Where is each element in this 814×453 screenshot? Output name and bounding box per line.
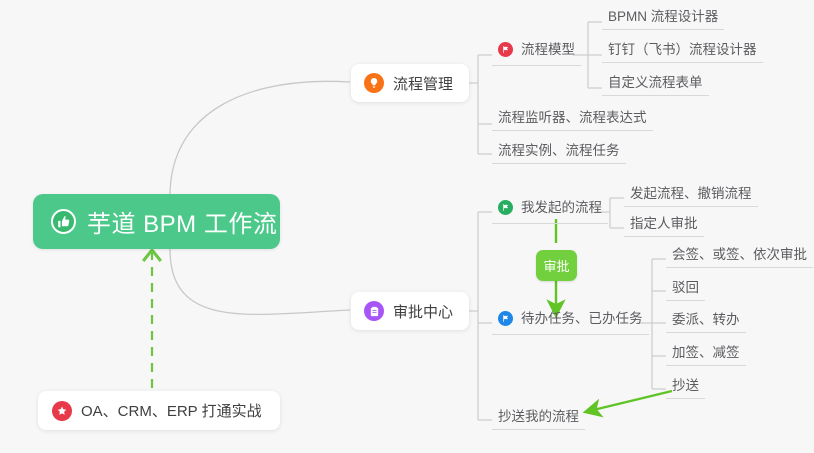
leaf-label: 指定人审批: [630, 217, 698, 231]
leaf-reject[interactable]: 驳回: [666, 281, 705, 301]
leaf-countersign-approval[interactable]: 会签、或签、依次审批: [666, 248, 813, 268]
leaf-label: 流程监听器、流程表达式: [498, 111, 647, 125]
callout-label: OA、CRM、ERP 打通实战: [81, 400, 262, 421]
flag-icon: [498, 200, 513, 215]
leaf-delegate-transfer[interactable]: 委派、转办: [666, 313, 746, 333]
leaf-my-initiated-process[interactable]: 我发起的流程: [492, 200, 608, 224]
arrow-cc-to-my-cc: [585, 391, 672, 412]
branch-label-process-management: 流程管理: [393, 73, 453, 94]
leaf-process-model[interactable]: 流程模型: [492, 42, 581, 66]
leaf-label: 流程模型: [521, 43, 575, 57]
root-node[interactable]: 芋道 BPM 工作流: [33, 194, 280, 249]
leaf-cc-to-me-process[interactable]: 抄送我的流程: [492, 410, 585, 430]
leaf-process-listener[interactable]: 流程监听器、流程表达式: [492, 111, 653, 131]
leaf-cc[interactable]: 抄送: [666, 379, 705, 399]
thumbs-up-icon: [51, 209, 76, 234]
leaf-add-remove-sign[interactable]: 加签、减签: [666, 346, 746, 366]
leaf-label: 加签、减签: [672, 346, 740, 360]
leaf-start-cancel-process[interactable]: 发起流程、撤销流程: [624, 187, 758, 207]
branch-node-approval-center[interactable]: 审批中心: [351, 292, 469, 330]
callout-node-oa-crm-erp[interactable]: OA、CRM、ERP 打通实战: [38, 391, 280, 430]
flag-icon: [498, 42, 513, 57]
leaf-label: 待办任务、已办任务: [521, 312, 643, 326]
approval-badge-label: 审批: [543, 256, 569, 275]
leaf-label: 抄送: [672, 379, 699, 393]
leaf-label: BPMN 流程设计器: [608, 10, 718, 24]
leaf-label: 委派、转办: [672, 313, 740, 327]
leaf-label: 我发起的流程: [521, 201, 602, 215]
star-icon: [52, 401, 72, 421]
branch-label-approval-center: 审批中心: [393, 301, 453, 322]
lightbulb-icon: [364, 73, 384, 93]
leaf-label: 发起流程、撤销流程: [630, 187, 752, 201]
leaf-label: 自定义流程表单: [608, 76, 703, 90]
leaf-label: 流程实例、流程任务: [498, 144, 620, 158]
leaf-assigned-approver[interactable]: 指定人审批: [624, 217, 704, 237]
leaf-label: 会签、或签、依次审批: [672, 248, 807, 262]
leaf-label: 钉钉（飞书）流程设计器: [608, 43, 757, 57]
leaf-todo-done-tasks[interactable]: 待办任务、已办任务: [492, 311, 649, 335]
leaf-process-instance[interactable]: 流程实例、流程任务: [492, 144, 626, 164]
leaf-bpmn-designer[interactable]: BPMN 流程设计器: [602, 10, 724, 30]
approval-badge[interactable]: 审批: [536, 250, 577, 281]
edge-root-to-approval-center: [170, 249, 350, 314]
leaf-custom-process-form[interactable]: 自定义流程表单: [602, 76, 709, 96]
mindmap-canvas: 芋道 BPM 工作流 流程管理 审批中心: [0, 0, 814, 453]
root-node-label: 芋道 BPM 工作流: [87, 204, 277, 239]
leaf-label: 驳回: [672, 281, 699, 295]
clipboard-icon: [364, 301, 384, 321]
branch-node-process-management[interactable]: 流程管理: [351, 64, 469, 102]
edge-root-to-process-management: [170, 81, 350, 196]
leaf-label: 抄送我的流程: [498, 410, 579, 424]
flag-icon: [498, 311, 513, 326]
leaf-dingtalk-feishu-designer[interactable]: 钉钉（飞书）流程设计器: [602, 43, 763, 63]
